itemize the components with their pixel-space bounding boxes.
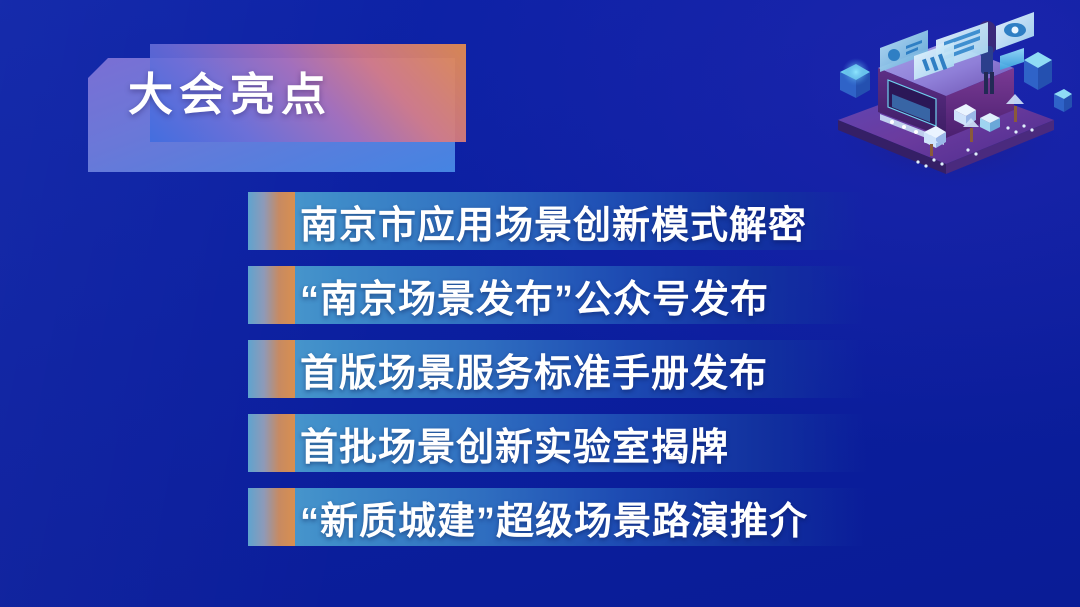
list-item[interactable]: 首批场景创新实验室揭牌 [248, 414, 868, 472]
list-item-accent-bar [248, 192, 295, 250]
list-item-label: 首批场景创新实验室揭牌 [300, 416, 729, 471]
list-item[interactable]: 首版场景服务标准手册发布 [248, 340, 868, 398]
list-item-label: “南京场景发布”公众号发布 [300, 268, 769, 323]
list-item-accent-bar [248, 340, 295, 398]
list-item[interactable]: “新质城建”超级场景路演推介 [248, 488, 868, 546]
list-item-label: 南京市应用场景创新模式解密 [300, 194, 807, 249]
list-item-accent-bar [248, 488, 295, 546]
isometric-illustration [818, 2, 1074, 192]
page-title: 大会亮点 [128, 58, 332, 123]
slide-canvas: 大会亮点 南京市应用场景创新模式解密 “南京场景发布”公众号发布 首版场景服务标… [0, 0, 1080, 607]
list-item-accent-bar [248, 266, 295, 324]
list-item-label: “新质城建”超级场景路演推介 [300, 490, 808, 545]
highlight-list: 南京市应用场景创新模式解密 “南京场景发布”公众号发布 首版场景服务标准手册发布… [248, 192, 868, 562]
list-item-accent-bar [248, 414, 295, 472]
list-item-label: 首版场景服务标准手册发布 [300, 342, 768, 397]
list-item[interactable]: 南京市应用场景创新模式解密 [248, 192, 868, 250]
list-item[interactable]: “南京场景发布”公众号发布 [248, 266, 868, 324]
